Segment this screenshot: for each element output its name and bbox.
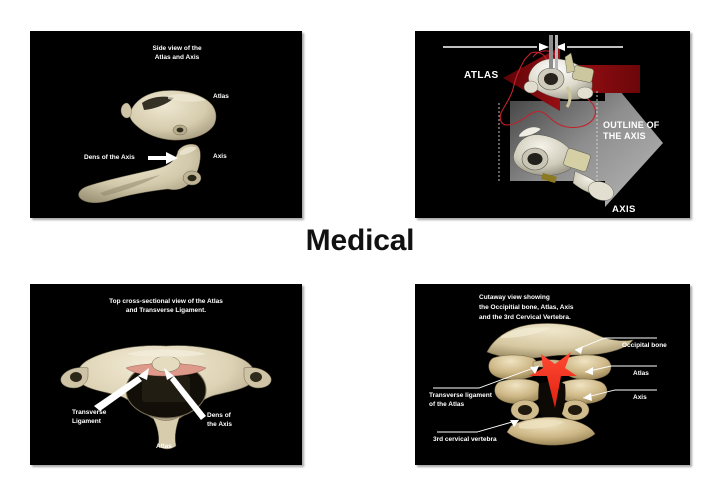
dens-line-2: the Axis bbox=[207, 421, 232, 428]
panel-bl-caption: Top cross-sectional view of the Atlas an… bbox=[70, 297, 262, 316]
label-outline-of-the-axis: OUTLINE OF THE AXIS bbox=[603, 120, 660, 143]
caption-line-2: and Transverse Ligament. bbox=[126, 307, 206, 314]
label-transverse-ligament-of-atlas: Transverse ligament of the Atlas bbox=[429, 392, 492, 410]
label-dens-of-the-axis: Dens of the Axis bbox=[207, 412, 232, 430]
outline-line-1: OUTLINE OF bbox=[603, 120, 660, 130]
caption-line-1: Top cross-sectional view of the Atlas bbox=[109, 298, 223, 305]
transverse-line-1: Transverse bbox=[72, 409, 106, 416]
caption-line-2: the Occipitial bone, Atlas, Axis bbox=[479, 304, 574, 311]
label-axis: Axis bbox=[213, 153, 227, 162]
label-axis: Axis bbox=[633, 394, 647, 403]
panel-tl-caption: Side view of the Atlas and Axis bbox=[122, 44, 232, 63]
outline-line-2: THE AXIS bbox=[603, 131, 646, 141]
transverse-line-2: of the Atlas bbox=[429, 401, 464, 408]
label-atlas: Atlas bbox=[213, 93, 229, 102]
label-dens-of-axis: Dens of the Axis bbox=[84, 154, 135, 163]
caption-line-2: Atlas and Axis bbox=[155, 54, 200, 61]
dens-line-1: Dens of bbox=[207, 412, 231, 419]
label-3rd-cervical-vertebra: 3rd cervical vertebra bbox=[433, 436, 497, 445]
panel-br-caption: Cutaway view showing the Occipitial bone… bbox=[479, 293, 574, 322]
panel-cutaway-view[interactable]: Cutaway view showing the Occipitial bone… bbox=[415, 284, 690, 465]
label-atlas: Atlas bbox=[633, 370, 649, 379]
label-axis-arrow: AXIS bbox=[612, 204, 636, 217]
panel-top-cross-section-atlas[interactable]: Top cross-sectional view of the Atlas an… bbox=[30, 284, 302, 465]
poster-canvas: Side view of the Atlas and Axis Atlas Ax… bbox=[0, 0, 720, 493]
caption-line-1: Side view of the bbox=[152, 45, 201, 52]
label-occipital-bone: Occipital bone bbox=[622, 342, 667, 351]
panel-atlas-axis-movement[interactable]: ATLAS AXIS OUTLINE OF THE AXIS bbox=[415, 31, 690, 218]
panel-side-view-atlas-axis[interactable]: Side view of the Atlas and Axis Atlas Ax… bbox=[30, 31, 302, 218]
transverse-line-1: Transverse ligament bbox=[429, 392, 492, 399]
page-title: Medical bbox=[0, 224, 720, 258]
label-transverse-ligament: Transverse Ligament bbox=[72, 409, 106, 427]
transverse-line-2: Ligament bbox=[72, 418, 101, 425]
label-atlas-arrow: ATLAS bbox=[464, 69, 499, 83]
label-atlas: Atlas bbox=[156, 443, 172, 452]
caption-line-1: Cutaway view showing bbox=[479, 294, 550, 301]
caption-line-3: and the 3rd Cervical Vertebra. bbox=[479, 314, 571, 321]
